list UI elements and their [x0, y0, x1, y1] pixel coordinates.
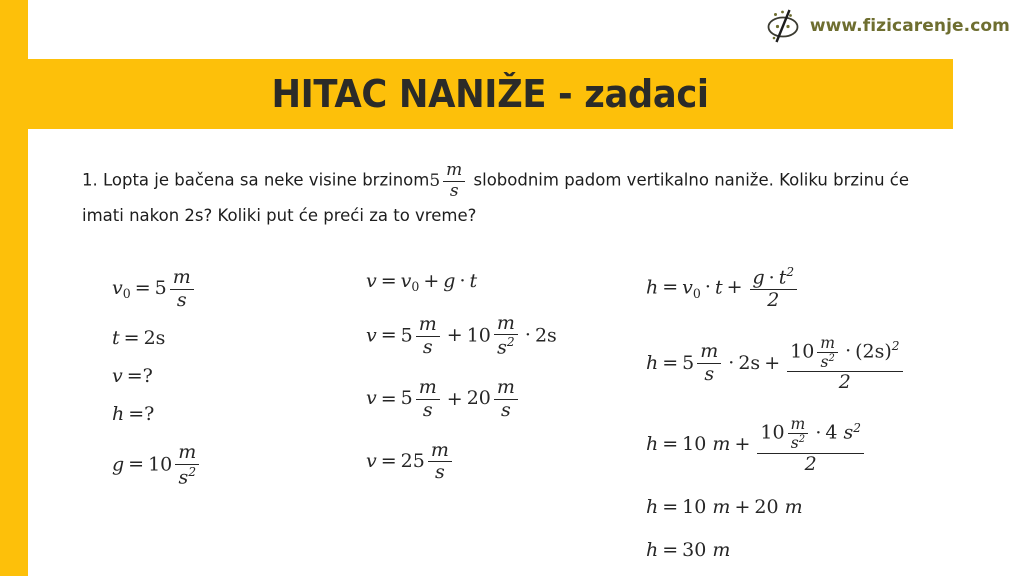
- t-exponent: 2: [786, 266, 794, 279]
- equation-t: t=2s: [112, 329, 202, 348]
- g-value: 10: [760, 422, 784, 444]
- equals: =: [377, 450, 401, 472]
- unit-den: s2: [788, 433, 809, 451]
- g-unit-fraction: ms2: [817, 335, 838, 370]
- result-unit-fraction: ms: [428, 441, 452, 483]
- result-value: 25: [401, 450, 425, 472]
- v0-subscript: 0: [693, 288, 701, 301]
- g-value: 10: [790, 340, 814, 362]
- unit-num: m: [817, 335, 838, 352]
- unit-den: s: [697, 363, 721, 385]
- multiply-dot: ·: [841, 340, 855, 362]
- gt2-over-2-fraction: g·t22: [750, 266, 798, 311]
- term-a-value: 10: [682, 496, 706, 518]
- v0-unit-fraction: ms: [416, 315, 440, 357]
- term-a-unit: m: [712, 496, 730, 518]
- h-symbol: h: [646, 276, 658, 298]
- equals: =: [377, 270, 401, 292]
- speed-unit-den: s: [443, 181, 465, 201]
- equals: =: [658, 276, 682, 298]
- v-symbol: v: [366, 270, 377, 292]
- fraction-numerator: g·t2: [750, 266, 798, 289]
- unit-den: s2: [494, 334, 518, 358]
- fraction-numerator: 10ms2·4 s2: [757, 416, 864, 452]
- h-symbol: h: [112, 403, 124, 425]
- h-unknown-marker: =?: [124, 403, 158, 425]
- result-value: 30: [682, 539, 706, 561]
- height-substituted: h=5ms·2s+10ms2·(2s)22: [646, 335, 906, 393]
- unit-den: s: [494, 399, 518, 421]
- velocity-substituted: v=5ms+10ms2·2s: [366, 314, 557, 359]
- unit-den-base: s: [821, 353, 829, 371]
- t2-value: 4: [825, 422, 837, 444]
- problem-statement: 1. Lopta je bačena sa neke visine brzino…: [82, 162, 962, 232]
- t-exponent: 2: [892, 340, 900, 353]
- plus: +: [730, 496, 754, 518]
- h-symbol: h: [646, 352, 658, 374]
- g-unit-fraction: ms2: [494, 314, 518, 359]
- equals: =: [377, 324, 401, 346]
- equals: =: [658, 433, 682, 455]
- plus: +: [723, 276, 747, 298]
- g-unit-den-base: s: [179, 466, 189, 488]
- multiply-dot: ·: [701, 276, 715, 298]
- equation-v-unknown: v=?: [112, 367, 202, 386]
- v0-value: 5: [682, 352, 694, 374]
- t-value: 2s: [144, 327, 166, 349]
- height-formula: h=v0·t+g·t22: [646, 266, 906, 311]
- v0-unit-fraction: ms: [170, 268, 194, 310]
- height-solution-column: h=v0·t+g·t22 h=5ms·2s+10ms2·(2s)22 h=10 …: [646, 266, 906, 584]
- t-symbol: t: [112, 327, 120, 349]
- v-symbol: v: [366, 388, 377, 410]
- equation-h-unknown: h=?: [112, 405, 202, 424]
- gt2-over-2-fraction: 10ms2·4 s22: [757, 416, 864, 474]
- t-value: 2s: [738, 352, 760, 374]
- t-equals: =: [120, 327, 144, 349]
- unit-num: m: [494, 378, 518, 399]
- g-unit-fraction: ms2: [788, 416, 809, 451]
- equals: =: [658, 539, 682, 561]
- problem-line-2: imati nakon 2s? Koliki put će preći za t…: [82, 200, 962, 232]
- t-symbol: t: [715, 276, 723, 298]
- plus: +: [760, 352, 784, 374]
- unit-den-exponent: 2: [829, 354, 835, 364]
- v-unknown-marker: =?: [123, 365, 157, 387]
- fraction-denominator: 2: [787, 371, 902, 393]
- g-value: 10: [148, 453, 172, 475]
- problem-line-1-after: slobodnim padom vertikalno naniže. Kolik…: [474, 171, 909, 190]
- multiply-dot: ·: [455, 270, 469, 292]
- v0-value: 5: [155, 277, 167, 299]
- multiply-dot: ·: [765, 267, 779, 289]
- g-unit-num: m: [175, 443, 199, 464]
- g-unit-fraction: ms2: [175, 443, 199, 488]
- velocity-partial: v=5ms+20ms: [366, 378, 557, 420]
- page-title: HITAC NANIŽE - zadaci: [272, 72, 709, 116]
- speed-value: 5: [429, 173, 440, 190]
- term-b-unit-fraction: ms: [494, 378, 518, 420]
- t2-exponent: 2: [853, 422, 861, 435]
- v-symbol: v: [366, 450, 377, 472]
- plus: +: [443, 388, 467, 410]
- v0-symbol: v: [401, 270, 412, 292]
- v0-unit-fraction: ms: [697, 342, 721, 384]
- term-b-value: 20: [754, 496, 778, 518]
- v0-subscript: 0: [123, 288, 131, 301]
- equals: =: [658, 496, 682, 518]
- term-a-value: 5: [401, 388, 413, 410]
- unit-den-exponent: 2: [799, 435, 805, 445]
- term-b-unit: m: [785, 496, 803, 518]
- unit-den-base: s: [497, 337, 507, 359]
- left-accent-bar: [0, 0, 28, 576]
- v0-unit-num: m: [170, 268, 194, 289]
- title-banner: HITAC NANIŽE - zadaci: [28, 59, 953, 129]
- velocity-solution-column: v=v0+g·t v=5ms+10ms2·2s v=5ms+20ms v=25m…: [366, 272, 557, 503]
- t2-unit: s: [844, 422, 854, 444]
- unit-den: s2: [817, 352, 838, 370]
- t-term: (2s): [855, 340, 892, 362]
- speed-unit-fraction: ms: [443, 162, 465, 200]
- unit-num: m: [494, 314, 518, 335]
- speed-unit-num: m: [443, 162, 465, 181]
- term-a-unit-fraction: ms: [416, 378, 440, 420]
- height-sum: h=10 m+20 m: [646, 498, 906, 517]
- fraction-denominator: 2: [757, 453, 864, 475]
- v0-value: 5: [401, 324, 413, 346]
- plus: +: [419, 270, 443, 292]
- g-unit-den: s2: [175, 464, 199, 488]
- equals: =: [377, 388, 401, 410]
- g-symbol: g: [443, 270, 455, 292]
- g-value: 10: [467, 324, 491, 346]
- plus: +: [443, 324, 467, 346]
- unit-den-base: s: [791, 435, 799, 453]
- v0-symbol: v: [112, 277, 123, 299]
- v0-unit-den: s: [170, 289, 194, 311]
- unit-num: m: [697, 342, 721, 363]
- brand-logo: www.fizicarenje.com: [763, 8, 1010, 44]
- unit-num: m: [428, 441, 452, 462]
- given-values-column: v0=5ms t=2s v=? h=? g=10ms2: [112, 268, 202, 507]
- term-b-value: 20: [467, 388, 491, 410]
- h-symbol: h: [646, 539, 658, 561]
- height-result: h=30 m: [646, 541, 906, 560]
- h-symbol: h: [646, 433, 658, 455]
- fraction-denominator: 2: [750, 289, 798, 311]
- unit-den-exponent: 2: [507, 336, 515, 349]
- term-value: 10: [682, 433, 706, 455]
- v-symbol: v: [112, 365, 123, 387]
- equation-v0: v0=5ms: [112, 268, 202, 310]
- unit-den: s: [428, 461, 452, 483]
- phi-logo-icon: [763, 8, 803, 44]
- equals: =: [658, 352, 682, 374]
- g-unit-den-exponent: 2: [188, 466, 196, 479]
- problem-line-1-before: 1. Lopta je bačena sa neke visine brzino…: [82, 171, 429, 190]
- t-symbol: t: [470, 270, 478, 292]
- height-partial: h=10 m+10ms2·4 s22: [646, 416, 906, 474]
- v0-symbol: v: [682, 276, 693, 298]
- g-symbol: g: [753, 267, 765, 289]
- velocity-formula: v=v0+g·t: [366, 272, 557, 294]
- multiply-dot: ·: [811, 422, 825, 444]
- term-unit: m: [712, 433, 730, 455]
- unit-den: s: [416, 336, 440, 358]
- fraction-numerator: 10ms2·(2s)2: [787, 335, 902, 371]
- plus: +: [730, 433, 754, 455]
- problem-speed-quantity: 5ms: [429, 162, 468, 200]
- velocity-result: v=25ms: [366, 441, 557, 483]
- v-symbol: v: [366, 324, 377, 346]
- multiply-dot: ·: [724, 352, 738, 374]
- brand-url-text: www.fizicarenje.com: [810, 16, 1010, 36]
- result-unit: m: [712, 539, 730, 561]
- unit-den: s: [416, 399, 440, 421]
- g-equals: =: [124, 453, 148, 475]
- v0-equals: =: [131, 277, 155, 299]
- unit-num: m: [416, 378, 440, 399]
- g-symbol: g: [112, 453, 124, 475]
- multiply-dot: ·: [521, 324, 535, 346]
- unit-num: m: [416, 315, 440, 336]
- problem-line-1: 1. Lopta je bačena sa neke visine brzino…: [82, 162, 962, 200]
- equation-g: g=10ms2: [112, 443, 202, 488]
- unit-num: m: [788, 416, 809, 433]
- t-value: 2s: [535, 324, 557, 346]
- h-symbol: h: [646, 496, 658, 518]
- gt2-over-2-fraction: 10ms2·(2s)22: [787, 335, 902, 393]
